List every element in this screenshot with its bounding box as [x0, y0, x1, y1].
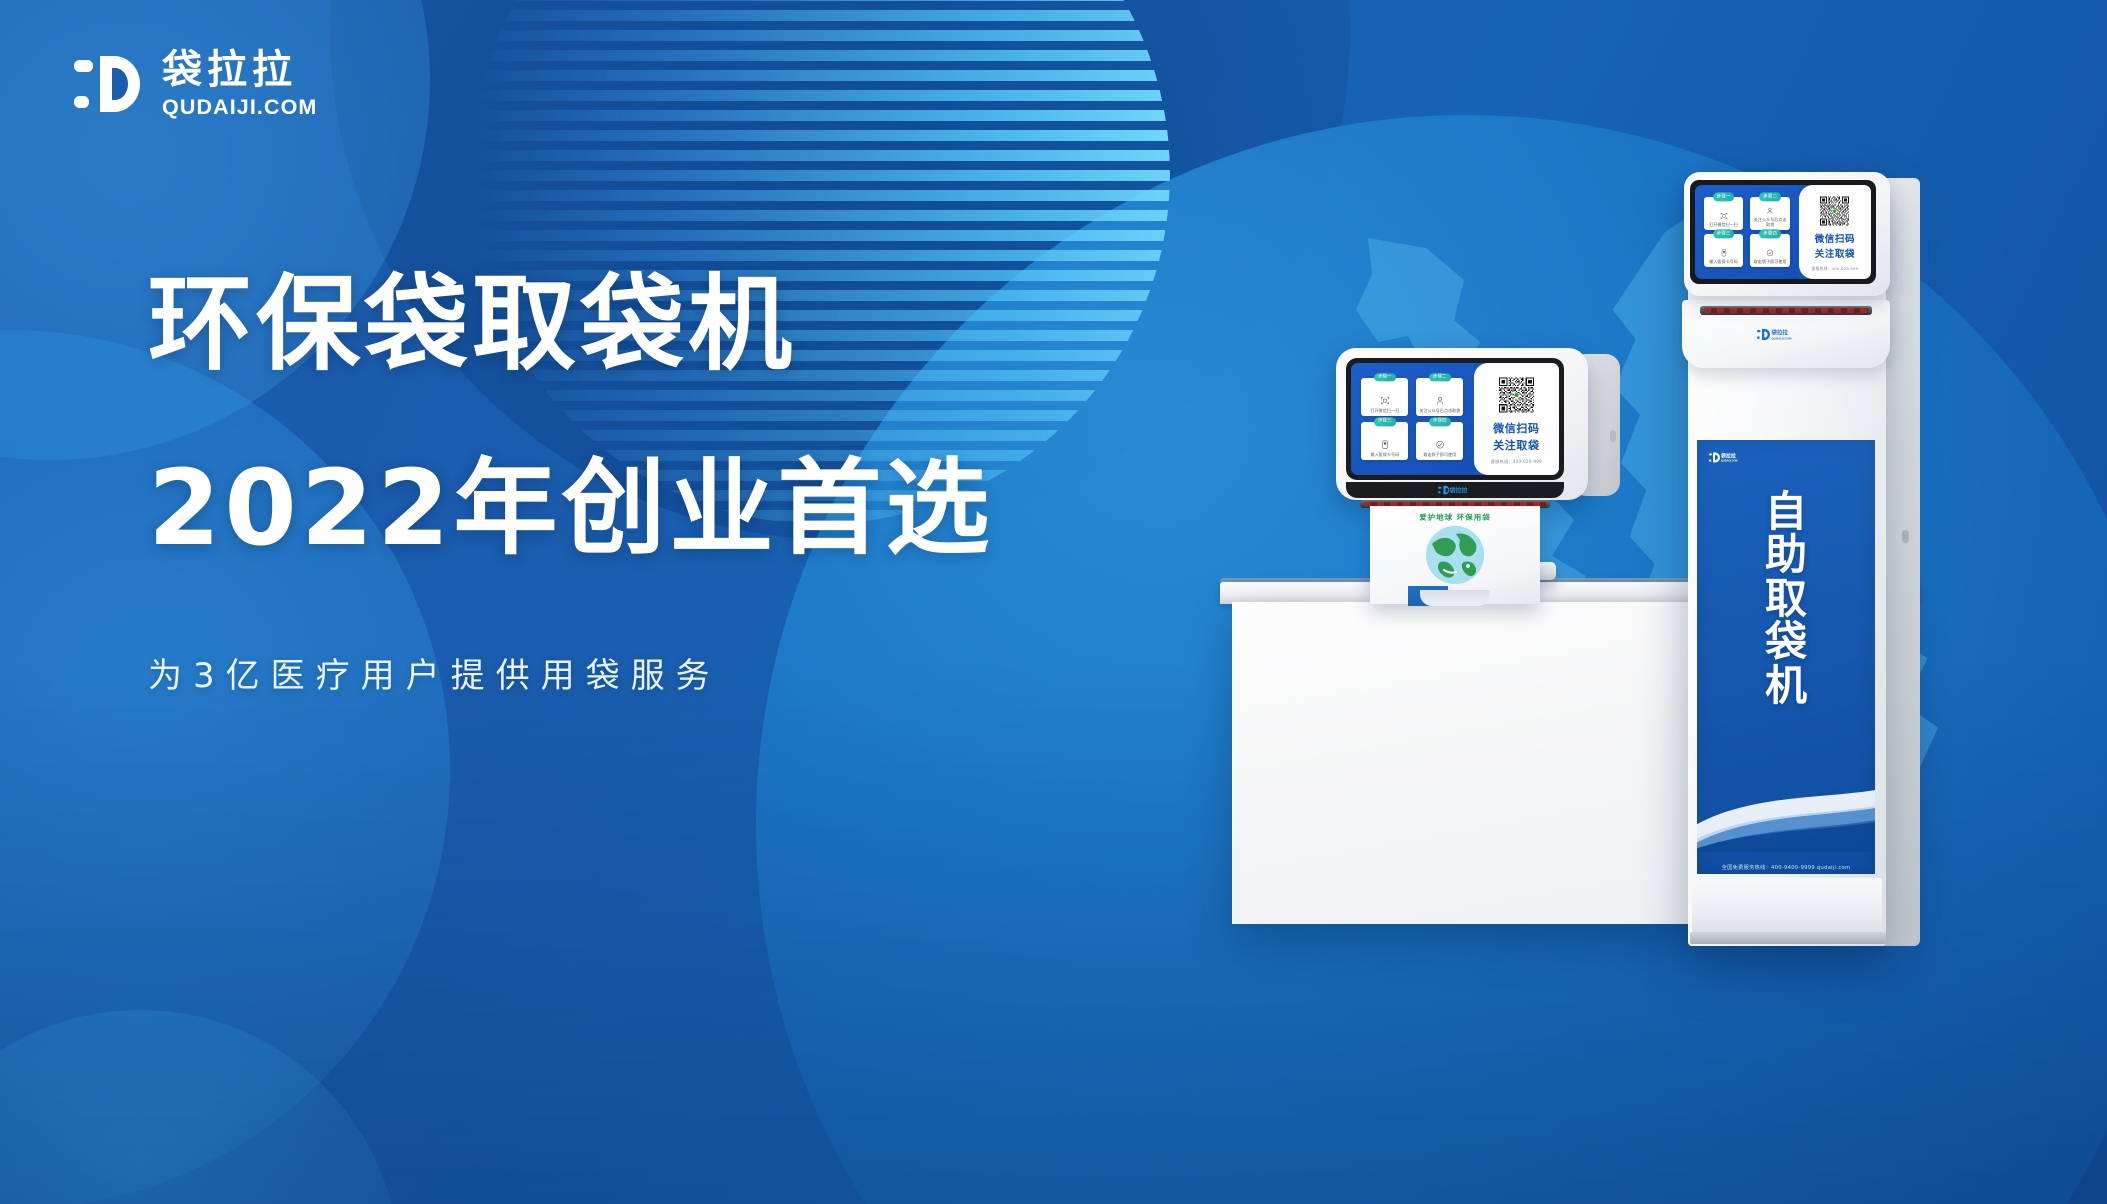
phone-code-icon	[1378, 440, 1392, 449]
step-badge: 步骤二	[1429, 373, 1451, 382]
eco-bag-handle	[1420, 590, 1490, 606]
hero-subtitle: 为3亿医疗用户提供用袋服务	[148, 648, 1148, 697]
screen-scan-panel: 微信扫码 关注取袋 客服热线：400-029-999	[1474, 363, 1559, 475]
wechat-qr-code-icon[interactable]	[1497, 373, 1536, 417]
step-text: 打开微信扫一扫	[1369, 409, 1401, 414]
step-text: 输入医保卡号码	[1369, 453, 1401, 458]
stripe-bar	[470, 110, 1170, 121]
qr-scan-icon	[1378, 396, 1392, 405]
step-card[interactable]: 步骤三 输入医保卡号码	[1704, 234, 1744, 266]
wechat-qr-code-icon[interactable]	[1818, 192, 1851, 230]
desktop-kiosk-screen-bezel: 步骤一 打开微信扫一扫 步骤二	[1346, 358, 1564, 480]
desktop-kiosk-brandmark: 袋拉拉	[1346, 482, 1564, 498]
panel-brandmark: 袋拉拉 QUDAIJI.COM	[1709, 450, 1757, 465]
brand-name-cn: 袋拉拉	[162, 50, 317, 90]
step-card[interactable]: 步骤一 打开微信扫一扫	[1361, 378, 1408, 417]
qudaiji-d-mark-icon: 袋拉拉	[1438, 485, 1472, 495]
desktop-kiosk: 步骤一 打开微信扫一扫 步骤二	[1336, 348, 1626, 604]
stripe-bar	[470, 30, 1170, 41]
desktop-kiosk-screen[interactable]: 步骤一 打开微信扫一扫 步骤二	[1351, 363, 1559, 475]
step-text: 打开微信扫一扫	[1708, 223, 1740, 228]
earth-globe-icon	[1426, 526, 1484, 584]
step-text: 取走袋子即可使用	[1752, 260, 1788, 265]
panel-logo-cn: 袋拉拉	[1720, 453, 1736, 460]
qudaiji-d-mark-icon: 袋拉拉 QUDAIJI.COM	[1757, 328, 1815, 341]
panel-logo-en: QUDAIJI.COM	[1721, 460, 1737, 463]
scan-headline-2: 关注取袋	[1493, 439, 1539, 453]
kiosk-tall-slot-teeth	[1704, 308, 1868, 313]
brand-logo: 袋拉拉 QUDAIJI.COM	[74, 48, 317, 120]
panel-title-char: 取	[1765, 579, 1807, 618]
screen-steps-panel: 步骤一 打开微信扫一扫 步骤二	[1695, 185, 1799, 279]
scan-headline-1: 微信扫码	[1815, 234, 1855, 246]
kiosk-tall-dispenser-slot	[1700, 306, 1872, 315]
step-text: 关注公众号后点击取袋	[1750, 218, 1790, 227]
scan-headline-1: 微信扫码	[1493, 422, 1539, 436]
screen-scan-panel: 微信扫码 关注取袋 客服热线：400-029-999	[1799, 185, 1871, 279]
kiosk-tall-screen-housing: 步骤一 打开微信扫一扫 步骤二	[1684, 172, 1890, 296]
step-card[interactable]: 步骤一 打开微信扫一扫	[1704, 197, 1744, 229]
hero-banner: 袋拉拉 QUDAIJI.COM 环保袋取袋机 2022年创业首选 为3亿医疗用户…	[0, 0, 2107, 1204]
stripe-bar	[470, 230, 1170, 241]
step-text: 输入医保卡号码	[1708, 260, 1740, 265]
step-text: 取走袋子即可使用	[1422, 453, 1459, 458]
panel-title-char: 袋	[1765, 622, 1807, 661]
step-badge: 步骤一	[1713, 193, 1735, 202]
svg-text:QUDAIJI.COM: QUDAIJI.COM	[1772, 337, 1793, 341]
dispensed-eco-bag: 爱护地球 环保用袋	[1370, 506, 1540, 604]
stripe-bar	[470, 150, 1170, 161]
desktop-kiosk-side-indicator	[1610, 430, 1616, 442]
check-circle-icon	[1433, 440, 1447, 449]
panel-title-char: 助	[1765, 535, 1807, 574]
qr-scan-icon	[1718, 212, 1730, 220]
panel-swoosh-decoration	[1697, 786, 1875, 852]
svg-text:袋拉拉: 袋拉拉	[1771, 329, 1789, 337]
screen-steps-panel: 步骤一 打开微信扫一扫 步骤二	[1351, 363, 1474, 475]
check-circle-icon	[1764, 249, 1776, 257]
stripe-bar	[470, 190, 1170, 201]
step-badge: 步骤二	[1759, 193, 1781, 202]
background-blob-bottom-left	[0, 1010, 400, 1204]
kiosk-tall-side-indicator	[1902, 530, 1909, 543]
eco-bag-slogan: 爱护地球 环保用袋	[1370, 513, 1540, 523]
qudaiji-d-mark-icon	[74, 48, 144, 120]
step-card[interactable]: 步骤三 输入医保卡号码	[1361, 422, 1408, 461]
panel-title-char: 机	[1765, 666, 1807, 705]
stripe-bar	[470, 0, 1170, 1]
kiosk-tall-brandmark: 袋拉拉 QUDAIJI.COM	[1688, 328, 1884, 341]
stripe-bar	[470, 50, 1170, 61]
step-card[interactable]: 步骤二 关注公众号后点击取袋	[1750, 197, 1790, 229]
step-badge: 步骤四	[1429, 417, 1451, 426]
step-card[interactable]: 步骤四 取走袋子即可使用	[1750, 234, 1790, 266]
scan-hotline: 客服热线：400-029-999	[1812, 266, 1859, 272]
step-badge: 步骤一	[1374, 373, 1396, 382]
svg-text:袋拉拉: 袋拉拉	[1449, 487, 1468, 495]
brand-name-en: QUDAIJI.COM	[162, 97, 317, 119]
headline-line-2: 2022年创业首选	[148, 456, 1148, 560]
wechat-follow-icon	[1433, 396, 1447, 405]
screen-steps-grid: 步骤一 打开微信扫一扫 步骤二	[1361, 378, 1463, 461]
hero-text-block: 环保袋取袋机 2022年创业首选 为3亿医疗用户提供用袋服务	[148, 272, 1148, 697]
step-text: 关注公众号后点击取袋	[1418, 409, 1463, 414]
step-badge: 步骤四	[1759, 230, 1781, 239]
stripe-bar	[470, 130, 1170, 141]
screen-steps-grid: 步骤一 打开微信扫一扫 步骤二	[1704, 197, 1790, 266]
stripe-bar	[470, 10, 1170, 21]
kiosk-tall-foot	[1690, 932, 1886, 944]
panel-vertical-title: 自 助 取 袋 机	[1697, 492, 1875, 705]
step-badge: 步骤三	[1713, 230, 1735, 239]
qudaiji-d-mark-icon: 袋拉拉 QUDAIJI.COM	[1709, 450, 1757, 465]
panel-footer-text: 全国免费服务热线：400-9400-9999 qudaiji.com	[1697, 864, 1875, 871]
kiosk-tall-signage-panel: 袋拉拉 QUDAIJI.COM 自 助 取 袋 机 全国免费服务热线：400-9…	[1697, 440, 1875, 874]
step-badge: 步骤三	[1374, 417, 1396, 426]
floor-standing-kiosk: 袋拉拉 QUDAIJI.COM 步骤一	[1688, 178, 1918, 946]
stripe-bar	[470, 250, 1170, 261]
scan-headline-2: 关注取袋	[1815, 249, 1855, 261]
stripe-bar	[470, 210, 1170, 221]
wechat-follow-icon	[1764, 207, 1776, 215]
scan-hotline: 客服热线：400-029-999	[1491, 459, 1542, 465]
kiosk-tall-plinth	[1692, 878, 1882, 938]
step-card[interactable]: 步骤二 关注公众号后点击取袋	[1416, 378, 1463, 417]
headline-line-1: 环保袋取袋机	[148, 272, 1148, 376]
step-card[interactable]: 步骤四 取走袋子即可使用	[1416, 422, 1463, 461]
stripe-bar	[470, 170, 1170, 181]
panel-title-char: 自	[1765, 492, 1807, 531]
phone-code-icon	[1718, 249, 1730, 257]
kiosk-tall-screen-bezel: 步骤一 打开微信扫一扫 步骤二	[1690, 180, 1876, 284]
stripe-bar	[470, 90, 1170, 101]
kiosk-tall-screen[interactable]: 步骤一 打开微信扫一扫 步骤二	[1695, 185, 1871, 279]
stripe-bar	[470, 70, 1170, 81]
